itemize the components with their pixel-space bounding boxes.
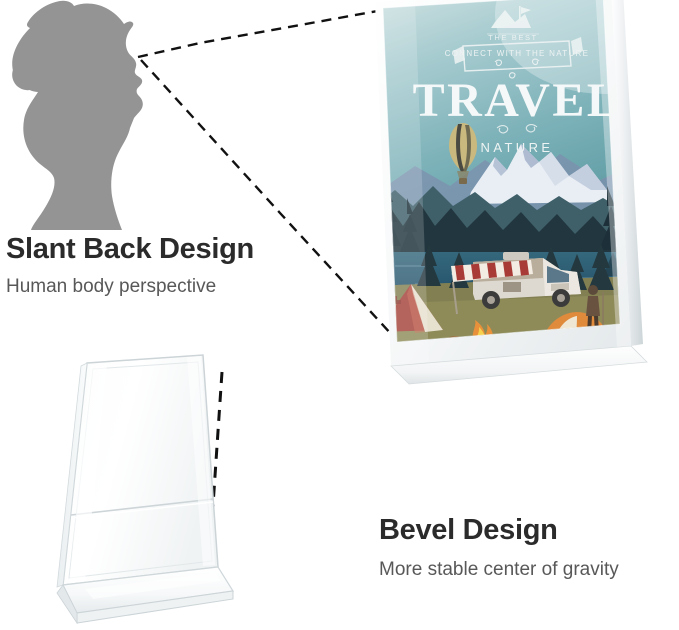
slant-back-design-subtitle: Human body perspective	[6, 277, 216, 296]
bevel-design-title: Bevel Design	[379, 516, 558, 545]
poster-headline: TRAVEL	[413, 74, 622, 127]
sign-holder-with-travel-poster: THE BEST CONNECT WITH THE NATURE	[355, 0, 655, 374]
bevel-design-subtitle: More stable center of gravity	[379, 560, 619, 579]
slant-back-design-title: Slant Back Design	[6, 235, 254, 264]
emblem-caption: THE BEST	[488, 33, 537, 42]
woman-head-profile-silhouette	[0, 0, 175, 232]
empty-acrylic-slant-back-stand	[55, 335, 285, 630]
infographic-canvas: THE BEST CONNECT WITH THE NATURE	[0, 0, 679, 630]
poster-subhead: NATURE	[481, 140, 554, 155]
ribbon-text: CONNECT WITH THE NATURE	[445, 49, 590, 58]
